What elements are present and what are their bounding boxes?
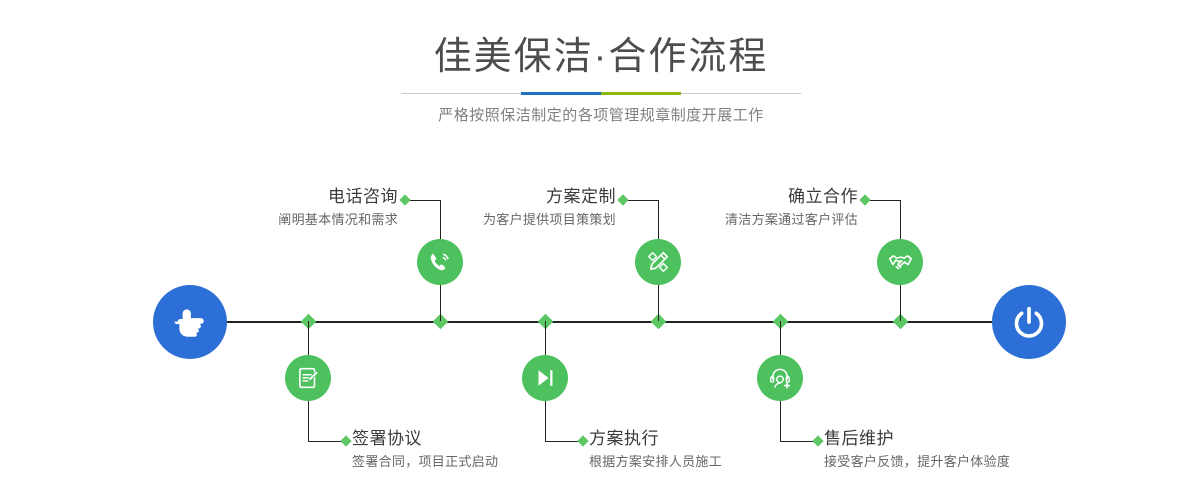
divider-segment-blue — [521, 92, 601, 95]
page-subtitle: 严格按照保洁制定的各项管理规章制度开展工作 — [0, 105, 1202, 127]
timeline-start-node — [153, 285, 227, 359]
page-title: 佳美保洁·合作流程 — [0, 34, 1202, 80]
handshake-icon — [887, 249, 914, 276]
play-forward-icon — [532, 365, 558, 391]
customer-service-add-icon — [767, 365, 793, 391]
step-1-tip — [399, 194, 410, 205]
step-4-elbow — [545, 441, 581, 442]
step-1-icon-node — [417, 239, 463, 285]
divider-rule-right — [681, 93, 801, 94]
power-icon — [1009, 302, 1049, 342]
step-2-desc: 签署合同，项目正式启动 — [352, 452, 582, 472]
step-3-desc: 为客户提供项目策策划 — [430, 210, 616, 230]
step-4-icon-node — [522, 355, 568, 401]
step-3-label: 方案定制 为客户提供项目策策划 — [430, 186, 616, 230]
timeline-end-node — [992, 285, 1066, 359]
pointing-hand-icon — [169, 301, 211, 343]
step-6-desc: 接受客户反馈，提升客户体验度 — [824, 452, 1074, 472]
step-2-label: 签署协议 签署合同，项目正式启动 — [352, 428, 582, 472]
step-3-tip — [617, 194, 628, 205]
step-1-title: 电话咨询 — [210, 186, 398, 208]
step-6-elbow — [780, 441, 816, 442]
step-1-desc: 阐明基本情况和需求 — [210, 210, 398, 230]
step-4-title: 方案执行 — [589, 428, 819, 450]
step-2-title: 签署协议 — [352, 428, 582, 450]
title-divider — [401, 92, 801, 95]
phone-call-icon — [427, 249, 453, 275]
step-6-title: 售后维护 — [824, 428, 1074, 450]
step-5-elbow — [866, 200, 901, 201]
step-5-desc: 清洁方案通过客户评估 — [680, 210, 858, 230]
step-3-icon-node — [635, 239, 681, 285]
step-1-label: 电话咨询 阐明基本情况和需求 — [210, 186, 398, 230]
step-5-title: 确立合作 — [680, 186, 858, 208]
step-5-label: 确立合作 清洁方案通过客户评估 — [680, 186, 858, 230]
step-3-elbow — [624, 200, 659, 201]
step-2-icon-node — [285, 355, 331, 401]
step-5-tip — [859, 194, 870, 205]
step-2-elbow — [308, 441, 344, 442]
cooperation-process-infographic: 佳美保洁·合作流程 严格按照保洁制定的各项管理规章制度开展工作 — [0, 0, 1202, 502]
step-6-label: 售后维护 接受客户反馈，提升客户体验度 — [824, 428, 1074, 472]
pencil-ruler-icon — [645, 249, 671, 275]
step-6-icon-node — [757, 355, 803, 401]
step-3-title: 方案定制 — [430, 186, 616, 208]
divider-rule-left — [401, 93, 521, 94]
step-4-label: 方案执行 根据方案安排人员施工 — [589, 428, 819, 472]
step-2-tip — [340, 435, 351, 446]
document-pencil-icon — [295, 365, 321, 391]
step-5-icon-node — [877, 239, 923, 285]
step-4-desc: 根据方案安排人员施工 — [589, 452, 819, 472]
divider-segment-green — [601, 92, 681, 95]
